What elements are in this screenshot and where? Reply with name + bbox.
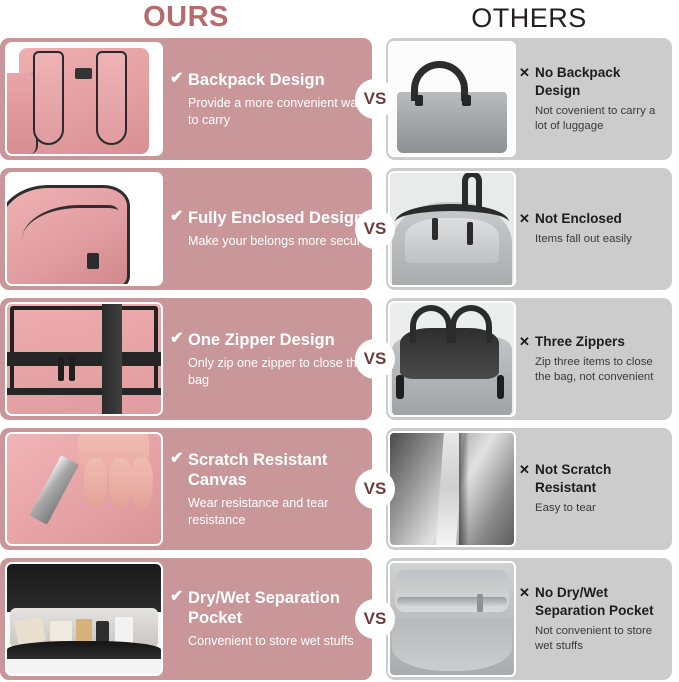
gray-bag-interior-no-pocket-photo xyxy=(390,563,514,675)
others-description: Zip three items to close the bag, not co… xyxy=(519,355,669,386)
gray-duffel-three-zippers-photo xyxy=(390,303,514,415)
others-title-text: Not Scratch Resistant xyxy=(535,462,611,495)
others-description: Not covenient to carry a lot of luggage xyxy=(519,104,669,135)
pink-bag-single-zipper-photo xyxy=(7,304,161,414)
ours-text-block: ✔ Backpack Design Provide a more conveni… xyxy=(170,38,375,160)
ours-panel-backpack-design: ✔ Backpack Design Provide a more conveni… xyxy=(0,38,372,160)
heading-others: OTHERS xyxy=(386,1,672,35)
ours-text-block: ✔ One Zipper Design Only zip one zipper … xyxy=(170,298,375,420)
gray-tote-bag-handles-photo xyxy=(390,43,514,155)
ours-title: ✔ Fully Enclosed Design xyxy=(170,208,375,228)
ours-title: ✔ One Zipper Design xyxy=(170,330,375,350)
others-description: Items fall out easily xyxy=(519,232,669,248)
pink-bag-dry-wet-pocket-photo xyxy=(7,564,161,674)
others-panel-not-enclosed: ✕ Not Enclosed Items fall out easily xyxy=(386,168,672,290)
check-icon: ✔ xyxy=(170,71,185,86)
comparison-row: ✔ Fully Enclosed Design Make your belong… xyxy=(0,168,679,290)
ours-image-card xyxy=(5,562,163,676)
others-title: ✕ No Backpack Design xyxy=(519,64,669,100)
check-icon: ✔ xyxy=(170,209,185,224)
others-title: ✕ No Dry/Wet Separation Pocket xyxy=(519,584,669,620)
others-title-text: No Backpack Design xyxy=(535,65,620,98)
ours-description: Provide a more convenient way to carry xyxy=(170,95,375,129)
ours-text-block: ✔ Dry/Wet Separation Pocket Convenient t… xyxy=(170,558,375,680)
ours-panel-dry-wet-separation-pocket: ✔ Dry/Wet Separation Pocket Convenient t… xyxy=(0,558,372,680)
comparison-row: ✔ Backpack Design Provide a more conveni… xyxy=(0,38,679,160)
comparison-row: ✔ Scratch Resistant Canvas Wear resistan… xyxy=(0,428,679,550)
ours-title-text: Fully Enclosed Design xyxy=(188,209,364,227)
others-panel-not-scratch-resistant: ✕ Not Scratch Resistant Easy to tear xyxy=(386,428,672,550)
comparison-rows: ✔ Backpack Design Provide a more conveni… xyxy=(0,38,679,680)
ours-title-text: Scratch Resistant Canvas xyxy=(188,451,327,489)
gray-fabric-torn-photo xyxy=(390,433,514,545)
heading-ours: OURS xyxy=(0,0,372,34)
ours-title: ✔ Backpack Design xyxy=(170,70,375,90)
ours-image-card xyxy=(5,432,163,546)
gray-bag-open-zipper-photo xyxy=(390,173,514,285)
check-icon: ✔ xyxy=(170,589,185,604)
others-text-block: ✕ Not Scratch Resistant Easy to tear xyxy=(519,428,669,550)
close-icon: ✕ xyxy=(519,585,532,599)
others-panel-no-backpack-design: ✕ No Backpack Design Not covenient to ca… xyxy=(386,38,672,160)
vs-badge: VS xyxy=(355,469,395,509)
ours-panel-one-zipper-design: ✔ One Zipper Design Only zip one zipper … xyxy=(0,298,372,420)
others-description: Easy to tear xyxy=(519,501,669,517)
others-panel-no-dry-wet-separation-pocket: ✕ No Dry/Wet Separation Pocket Not conve… xyxy=(386,558,672,680)
ours-text-block: ✔ Scratch Resistant Canvas Wear resistan… xyxy=(170,428,375,550)
others-image-card xyxy=(388,431,516,547)
ours-panel-scratch-resistant-canvas: ✔ Scratch Resistant Canvas Wear resistan… xyxy=(0,428,372,550)
others-title-text: No Dry/Wet Separation Pocket xyxy=(535,585,654,618)
others-image-card xyxy=(388,301,516,417)
vs-badge: VS xyxy=(355,209,395,249)
ours-title-text: Backpack Design xyxy=(188,71,325,89)
comparison-infographic: OURS OTHERS ✔ xyxy=(0,0,679,682)
check-icon: ✔ xyxy=(170,451,185,466)
others-title: ✕ Three Zippers xyxy=(519,333,669,351)
ours-image-card xyxy=(5,302,163,416)
others-image-card xyxy=(388,41,516,157)
others-text-block: ✕ Not Enclosed Items fall out easily xyxy=(519,168,669,290)
others-panel-three-zippers: ✕ Three Zippers Zip three items to close… xyxy=(386,298,672,420)
ours-title: ✔ Scratch Resistant Canvas xyxy=(170,450,375,490)
others-title: ✕ Not Scratch Resistant xyxy=(519,461,669,497)
headers-row: OURS OTHERS xyxy=(0,0,679,38)
ours-description: Only zip one zipper to close the bag xyxy=(170,355,375,389)
pink-canvas-blade-scratch-test-photo xyxy=(7,434,161,544)
others-title-text: Three Zippers xyxy=(535,334,625,349)
ours-description: Wear resistance and tear resistance xyxy=(170,495,375,529)
others-text-block: ✕ Three Zippers Zip three items to close… xyxy=(519,298,669,420)
vs-badge: VS xyxy=(355,79,395,119)
ours-panel-fully-enclosed-design: ✔ Fully Enclosed Design Make your belong… xyxy=(0,168,372,290)
others-title-text: Not Enclosed xyxy=(535,211,622,226)
close-icon: ✕ xyxy=(519,462,532,476)
ours-image-card xyxy=(5,172,163,286)
ours-title: ✔ Dry/Wet Separation Pocket xyxy=(170,588,375,628)
close-icon: ✕ xyxy=(519,65,532,79)
ours-image-card xyxy=(5,42,163,156)
close-icon: ✕ xyxy=(519,211,532,225)
ours-title-text: One Zipper Design xyxy=(188,331,335,349)
check-icon: ✔ xyxy=(170,331,185,346)
close-icon: ✕ xyxy=(519,334,532,348)
ours-title-text: Dry/Wet Separation Pocket xyxy=(188,589,340,627)
others-description: Not convenient to store wet stuffs xyxy=(519,624,669,655)
ours-description: Convenient to store wet stuffs xyxy=(170,633,375,650)
pink-bag-enclosed-closeup-photo xyxy=(7,174,161,284)
others-text-block: ✕ No Backpack Design Not covenient to ca… xyxy=(519,38,669,160)
vs-badge: VS xyxy=(355,339,395,379)
ours-description: Make your belongs more secure xyxy=(170,233,375,250)
others-text-block: ✕ No Dry/Wet Separation Pocket Not conve… xyxy=(519,558,669,680)
others-title: ✕ Not Enclosed xyxy=(519,210,669,228)
comparison-row: ✔ Dry/Wet Separation Pocket Convenient t… xyxy=(0,558,679,680)
ours-text-block: ✔ Fully Enclosed Design Make your belong… xyxy=(170,168,375,290)
others-image-card xyxy=(388,171,516,287)
others-image-card xyxy=(388,561,516,677)
comparison-row: ✔ One Zipper Design Only zip one zipper … xyxy=(0,298,679,420)
vs-badge: VS xyxy=(355,599,395,639)
pink-backpack-shoulder-straps-photo xyxy=(7,44,161,154)
